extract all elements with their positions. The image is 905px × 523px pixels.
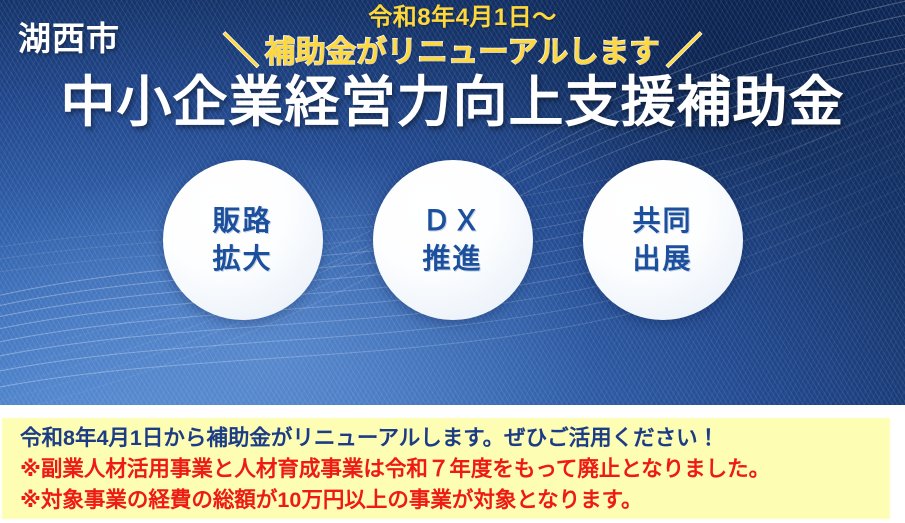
slash-left-icon: ＼ [223,33,259,69]
notice-line-eligibility: ※対象事業の経費の総額が10万円以上の事業が対象となります。 [20,485,890,516]
focus-circle-label-line1: 販路 [212,203,272,239]
renewal-message: 補助金がリニューアルします [265,36,660,69]
focus-circle-sales-expansion: 販路 拡大 [163,160,323,320]
renewal-date-label: 令和8年4月1日～ [0,5,905,30]
page-title: 中小企業経営力向上支援補助金 [0,74,905,132]
subsidy-banner: 湖西市 令和8年4月1日～ ＼ 補助金がリニューアルします ／ 中小企業経営力向… [0,0,905,523]
slash-right-icon: ／ [666,33,702,69]
focus-area-circles: 販路 拡大 ＤＸ 推進 共同 出展 [0,160,905,320]
notice-section: 令和8年4月1日から補助金がリニューアルします。ぜひご活用ください！ ※副業人材… [0,405,905,523]
focus-circle-label-line1: 共同 [632,203,692,239]
focus-circle-joint-exhibition: 共同 出展 [583,160,743,320]
notice-line-discontinued: ※副業人材活用事業と人材育成事業は令和７年度をもって廃止となりました。 [20,454,890,485]
focus-circle-dx-promotion: ＤＸ 推進 [373,160,533,320]
renewal-message-row: ＼ 補助金がリニューアルします ／ [0,34,905,70]
focus-circle-label-line2: 推進 [422,241,482,277]
hero-section: 湖西市 令和8年4月1日～ ＼ 補助金がリニューアルします ／ 中小企業経営力向… [0,0,905,405]
focus-circle-label-line2: 出展 [632,241,692,277]
notice-text-block: 令和8年4月1日から補助金がリニューアルします。ぜひご活用ください！ ※副業人材… [20,423,890,516]
focus-circle-label-line1: ＤＸ [422,203,482,239]
focus-circle-label-line2: 拡大 [212,241,272,277]
notice-line-renewal: 令和8年4月1日から補助金がリニューアルします。ぜひご活用ください！ [20,423,890,454]
